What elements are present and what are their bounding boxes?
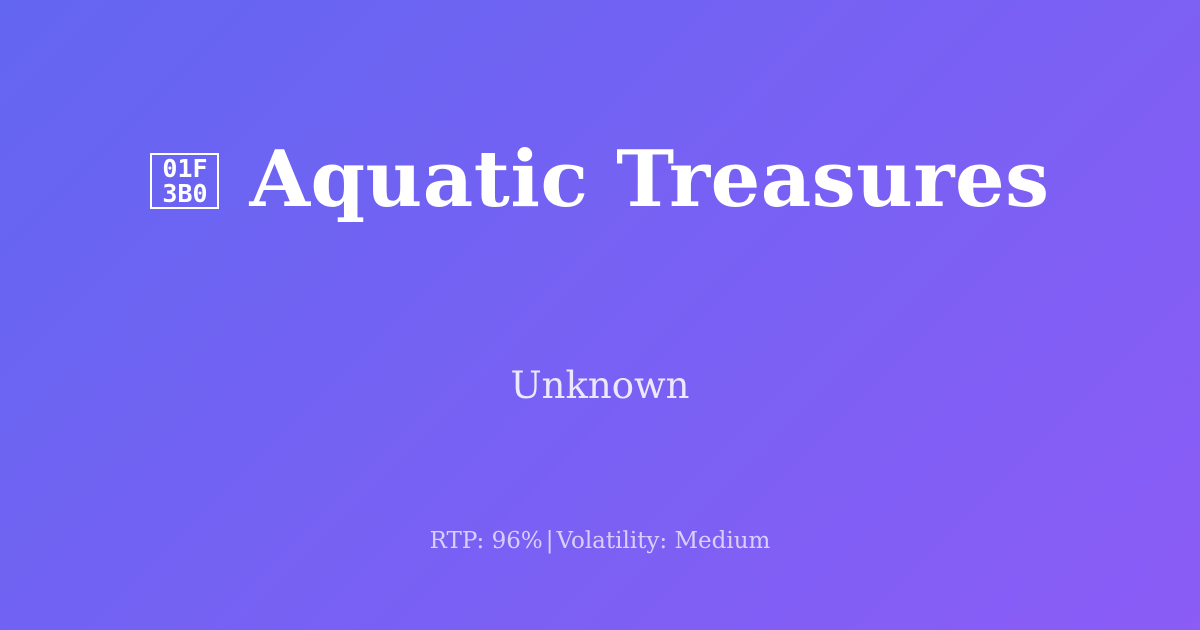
tofu-codepoint-bottom: 3B0: [162, 181, 207, 206]
page-title: Aquatic Treasures: [249, 135, 1049, 225]
meta-separator: |: [543, 528, 557, 554]
volatility-value: Volatility: Medium: [556, 528, 770, 554]
provider-label: Unknown: [0, 360, 1200, 412]
tofu-codepoint-top: 01F: [162, 156, 207, 181]
rtp-value: RTP: 96%: [430, 528, 543, 554]
game-meta-footer: RTP: 96%|Volatility: Medium: [0, 524, 1200, 558]
slot-machine-icon: 01F 3B0: [150, 153, 219, 209]
title-row: 01F 3B0 Aquatic Treasures: [0, 0, 1200, 360]
game-share-card: 01F 3B0 Aquatic Treasures Unknown RTP: 9…: [0, 0, 1200, 630]
